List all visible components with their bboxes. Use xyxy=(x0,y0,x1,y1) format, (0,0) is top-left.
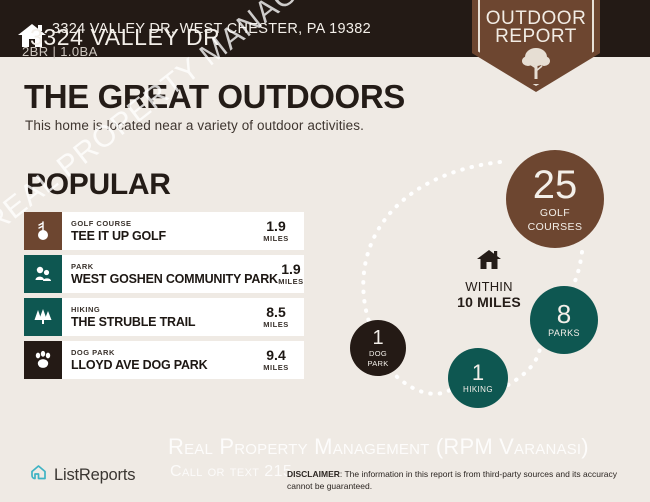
list-item-distance: 8.5 MILES xyxy=(248,298,304,336)
list-item-name: WEST GOSHEN COMMUNITY PARK xyxy=(71,272,278,286)
stat-label-line1: PARKS xyxy=(548,329,580,339)
stat-count: 1 xyxy=(372,328,383,348)
distance-unit: MILES xyxy=(263,363,288,372)
listreports-house-icon xyxy=(28,463,48,488)
distance-unit: MILES xyxy=(263,320,288,329)
stat-label-line1: GOLF xyxy=(540,208,570,219)
list-item-category: HIKING xyxy=(71,305,248,314)
stat-circle-dog-park[interactable]: 1 DOG PARK xyxy=(350,320,406,376)
section-heading-popular: POPULAR xyxy=(26,168,171,202)
disclaimer: DISCLAIMER: The information in this repo… xyxy=(287,469,639,492)
distance-value: 9.4 xyxy=(266,348,285,363)
golf-icon xyxy=(24,212,62,250)
list-item-category: PARK xyxy=(71,262,278,271)
distance-value: 1.9 xyxy=(266,219,285,234)
stat-circle-golf-courses[interactable]: 25 GOLF COURSES xyxy=(506,150,604,248)
distance-value: 1.9 xyxy=(281,262,300,277)
stat-circle-hiking[interactable]: 1 HIKING xyxy=(448,348,508,408)
list-item-name: TEE IT UP GOLF xyxy=(71,229,248,243)
disclaimer-label: DISCLAIMER xyxy=(287,469,340,479)
diagram-center-node: WITHIN 10 MILES xyxy=(434,248,544,310)
stat-count: 1 xyxy=(472,362,484,384)
page-title: THE GREAT OUTDOORS xyxy=(24,78,405,116)
center-label-line2: 10 MILES xyxy=(434,294,544,310)
home-icon xyxy=(434,248,544,275)
property-address-full: 3324 VALLEY DR, WEST CHESTER, PA 19382 xyxy=(52,21,371,37)
park-icon xyxy=(24,255,62,293)
stat-label-line1: DOG xyxy=(369,350,387,358)
list-item-text: HIKING THE STRUBLE TRAIL xyxy=(62,298,248,336)
list-item-distance: 9.4 MILES xyxy=(248,341,304,379)
stat-count: 25 xyxy=(533,165,578,205)
list-item-category: GOLF COURSE xyxy=(71,219,248,228)
list-item-text: DOG PARK LLOYD AVE DOG PARK xyxy=(62,341,248,379)
outdoor-report-badge: OUTDOOR REPORT xyxy=(472,0,600,92)
listreports-logo[interactable]: ListReports xyxy=(28,463,135,488)
listreports-logo-text: ListReports xyxy=(54,466,135,485)
list-item-distance: 1.9 MILES xyxy=(278,255,304,293)
list-item-text: PARK WEST GOSHEN COMMUNITY PARK xyxy=(62,255,278,293)
amenities-diagram: 25 GOLF COURSES 8 PARKS 1 HIKING 1 DOG P… xyxy=(330,140,650,440)
list-item-name: THE STRUBLE TRAIL xyxy=(71,315,248,329)
hiking-icon xyxy=(24,298,62,336)
stat-label-line2: PARK xyxy=(367,360,388,368)
stat-count: 8 xyxy=(557,301,571,327)
property-beds-baths: 2BR | 1.0BA xyxy=(22,44,98,59)
list-item-distance: 1.9 MILES xyxy=(248,212,304,250)
stat-label-line1: HIKING xyxy=(463,386,493,395)
center-label-line1: WITHIN xyxy=(434,279,544,294)
list-item[interactable]: HIKING THE STRUBLE TRAIL 8.5 MILES xyxy=(24,298,304,336)
list-item-text: GOLF COURSE TEE IT UP GOLF xyxy=(62,212,248,250)
distance-unit: MILES xyxy=(263,234,288,243)
distance-unit: MILES xyxy=(278,277,303,286)
list-item-name: LLOYD AVE DOG PARK xyxy=(71,358,248,372)
distance-value: 8.5 xyxy=(266,305,285,320)
paw-icon xyxy=(24,341,62,379)
outdoor-report-page: 3324 VALLEY DR 3324 VALLEY DR, WEST CHES… xyxy=(0,0,650,502)
list-item-category: DOG PARK xyxy=(71,348,248,357)
list-item[interactable]: GOLF COURSE TEE IT UP GOLF 1.9 MILES xyxy=(24,212,304,250)
badge-line2: REPORT xyxy=(472,26,600,48)
page-subtitle: This home is located near a variety of o… xyxy=(25,118,364,133)
list-item[interactable]: PARK WEST GOSHEN COMMUNITY PARK 1.9 MILE… xyxy=(24,255,304,293)
popular-list: GOLF COURSE TEE IT UP GOLF 1.9 MILES PAR… xyxy=(24,212,304,384)
stat-label-line2: COURSES xyxy=(528,222,583,233)
list-item[interactable]: DOG PARK LLOYD AVE DOG PARK 9.4 MILES xyxy=(24,341,304,379)
tree-icon xyxy=(521,46,551,85)
